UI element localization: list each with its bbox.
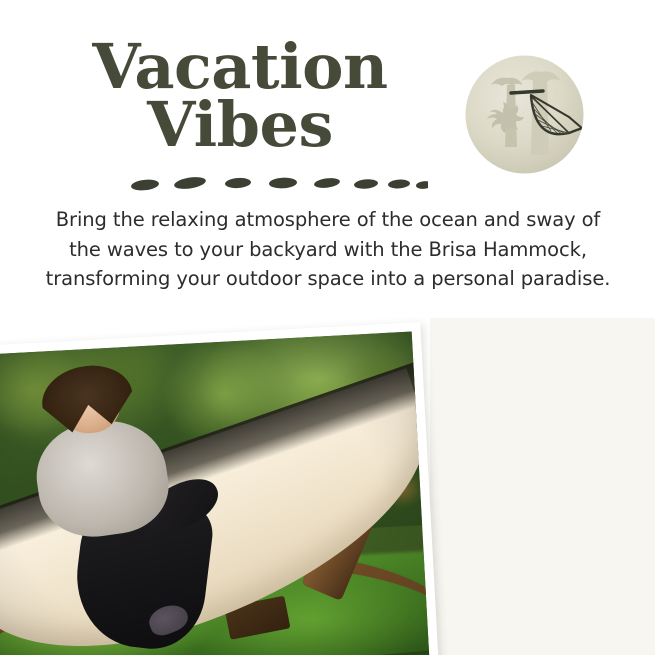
intro-paragraph: Bring the relaxing atmosphere of the oce… bbox=[28, 205, 628, 294]
hammock-palm-badge-icon bbox=[465, 55, 584, 174]
photo-vignette bbox=[0, 332, 430, 655]
poster-root: Vacation Vibes bbox=[0, 0, 655, 655]
hammock-photo-card bbox=[0, 322, 439, 655]
dashed-divider-icon bbox=[128, 172, 428, 194]
intro-line-3: transforming your outdoor space into a p… bbox=[28, 264, 628, 294]
intro-line-2: the waves to your backyard with the Bris… bbox=[28, 235, 628, 265]
header-section: Vacation Vibes bbox=[0, 0, 655, 200]
page-title: Vacation Vibes bbox=[40, 38, 440, 155]
intro-line-1: Bring the relaxing atmosphere of the oce… bbox=[28, 205, 628, 235]
lower-section: Transform your outdoor space into a pers… bbox=[0, 318, 655, 655]
title-line-2: Vibes bbox=[40, 96, 440, 154]
hammock-photo bbox=[0, 332, 430, 655]
